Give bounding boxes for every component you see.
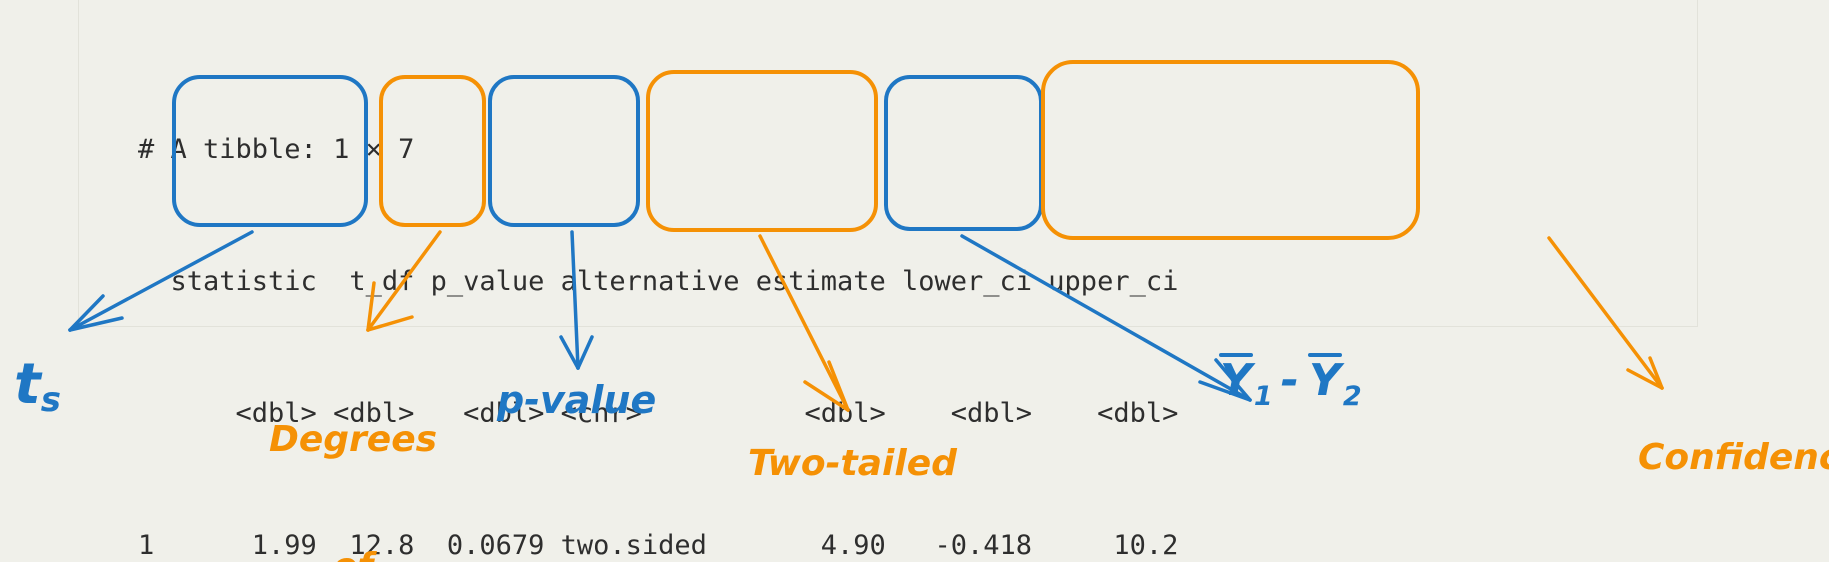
tibble-header-line: # A tibble: 1 × 7	[138, 128, 1178, 172]
annotation-label-confidence-interval: Confidence Interval	[1638, 352, 1828, 562]
annotation-twotailed-line1: Two-tailed	[748, 443, 956, 485]
annotated-r-output-figure: # A tibble: 1 × 7 statistic t_df p_value…	[0, 0, 1829, 562]
annotation-means-operator: -	[1273, 355, 1307, 406]
overbar-icon	[1308, 353, 1342, 357]
annotation-label-mean-difference: Y1-Y2	[1218, 355, 1362, 413]
annotation-mean1-symbol: Y	[1220, 355, 1252, 406]
annotation-mean2-symbol: Y	[1309, 355, 1341, 406]
code-panel-right-rule	[1697, 0, 1698, 327]
annotation-label-two-tailed-test: Two-tailed test	[748, 358, 956, 562]
overbar-icon	[1219, 353, 1253, 357]
annotation-df-line2: of	[268, 546, 438, 562]
annotation-mean1-subscript: 1	[1254, 381, 1273, 412]
tibble-column-line: statistic t_df p_value alternative estim…	[138, 260, 1178, 304]
annotation-ts-symbol: t	[14, 352, 41, 417]
annotation-label-degrees-of-freedom: Degrees of freedom	[268, 334, 438, 562]
annotation-ci-line1: Confidence	[1638, 437, 1828, 479]
annotation-mean2: Y	[1307, 355, 1343, 407]
annotation-label-ts: ts	[14, 352, 61, 420]
annotation-label-p-value: p-value	[497, 378, 656, 423]
annotation-df-line1: Degrees	[268, 419, 438, 461]
annotation-ts-subscript: s	[41, 380, 61, 420]
annotation-mean1: Y	[1218, 355, 1254, 407]
annotation-mean2-subscript: 2	[1343, 381, 1362, 412]
code-panel-left-rule	[78, 0, 79, 327]
